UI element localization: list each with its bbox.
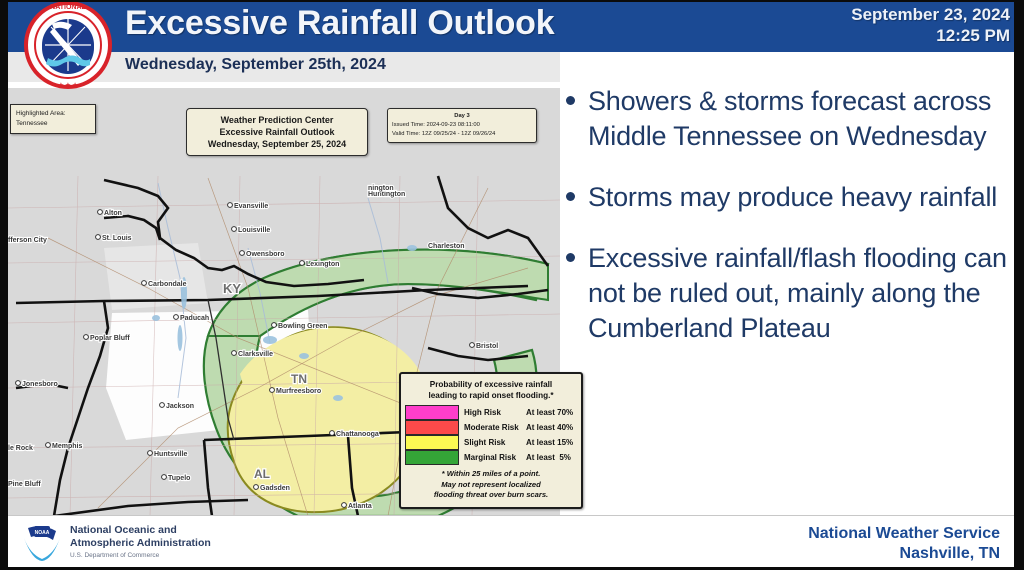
legend-row: Moderate RiskAt least 40%	[405, 420, 577, 435]
header-timestamp: September 23, 2024 12:25 PM	[851, 4, 1010, 46]
legend-row: High RiskAt least 70%	[405, 405, 577, 420]
issuing-office: National Weather Service Nashville, TN	[808, 524, 1000, 564]
legend-title-line-1: Probability of excessive rainfall	[405, 379, 577, 390]
svg-text:TN: TN	[291, 372, 307, 386]
frame-edge-left	[0, 0, 8, 570]
bullet-dot-icon	[566, 241, 588, 346]
legend-risk-name: Marginal Risk	[464, 453, 526, 462]
noaa-agency-text: National Oceanic and Atmospheric Adminis…	[70, 524, 211, 561]
legend-risk-threshold: At least 70%	[526, 408, 573, 417]
legend-title-line-2: leading to rapid onset flooding.*	[405, 390, 577, 401]
wpc-line-2: Excessive Rainfall Outlook	[191, 126, 363, 138]
page-title: Excessive Rainfall Outlook	[125, 4, 554, 43]
noaa-line-1: National Oceanic and	[70, 524, 211, 537]
header-issue-time: 12:25 PM	[851, 25, 1010, 46]
legend-swatch	[405, 405, 459, 420]
issued-time: Issued Time: 2024-09-23 08:11:00	[392, 121, 532, 130]
svg-text:Alton: Alton	[104, 210, 122, 217]
wpc-line-1: Weather Prediction Center	[191, 114, 363, 126]
highlighted-area-value: Tennessee	[16, 119, 90, 129]
svg-text:Louisville: Louisville	[238, 227, 270, 234]
legend-footnote-line-2: May not represent localized	[405, 480, 577, 491]
svg-text:Gadsden: Gadsden	[260, 485, 290, 492]
frame-edge-top	[0, 0, 1024, 2]
svg-text:Jackson: Jackson	[166, 403, 194, 410]
svg-text:Murfreesboro: Murfreesboro	[276, 388, 321, 395]
svg-text:AL: AL	[254, 467, 270, 481]
svg-text:fferson City: fferson City	[8, 237, 47, 244]
noaa-line-3: U.S. Department of Commerce	[70, 550, 211, 561]
legend-risk-threshold: At least 15%	[526, 438, 573, 447]
office-name: National Weather Service	[808, 524, 1000, 544]
legend-swatch	[405, 420, 459, 435]
frame-edge-right	[1014, 0, 1024, 570]
forecast-bullet: Excessive rainfall/flash flooding can no…	[566, 241, 1018, 346]
bullet-dot-icon	[566, 84, 588, 154]
highlighted-area-label: Highlighted Area:	[16, 109, 90, 119]
risk-legend: Probability of excessive rainfall leadin…	[399, 372, 583, 509]
svg-text:St. Louis: St. Louis	[102, 235, 132, 242]
footer-bar: NOAA National Oceanic and Atmospheric Ad…	[8, 515, 1014, 567]
svg-text:Tupelo: Tupelo	[168, 475, 190, 482]
bullet-text: Storms may produce heavy rainfall	[588, 180, 997, 215]
valid-time: Valid Time: 12Z 09/25/24 - 12Z 09/26/24	[392, 130, 532, 139]
svg-text:Huntsville: Huntsville	[154, 451, 188, 458]
bullet-text: Showers & storms forecast across Middle …	[588, 84, 1018, 154]
highlighted-area-callout: Highlighted Area: Tennessee	[10, 104, 96, 134]
bullet-dot-icon	[566, 180, 588, 215]
legend-swatch	[405, 450, 459, 465]
svg-text:Clarksville: Clarksville	[238, 351, 273, 358]
svg-text:NATIONAL: NATIONAL	[50, 4, 86, 11]
noaa-logo-icon: NOAA	[20, 522, 64, 562]
forecast-bullet-list: Showers & storms forecast across Middle …	[566, 84, 1018, 514]
legend-footnote-line-1: * Within 25 miles of a point.	[405, 469, 577, 480]
wpc-line-3: Wednesday, September 25, 2024	[191, 138, 363, 150]
legend-risk-threshold: At least 40%	[526, 423, 573, 432]
svg-text:Charleston: Charleston	[428, 243, 465, 250]
svg-text:nington: nington	[368, 185, 394, 192]
day-validity-callout: Day 3 Issued Time: 2024-09-23 08:11:00 V…	[387, 108, 537, 143]
legend-risk-name: Moderate Risk	[464, 423, 526, 432]
svg-text:Bristol: Bristol	[476, 343, 498, 350]
office-location: Nashville, TN	[808, 544, 1000, 564]
noaa-line-2: Atmospheric Administration	[70, 537, 211, 550]
svg-text:NOAA: NOAA	[35, 530, 50, 536]
svg-text:Poplar Bluff: Poplar Bluff	[90, 335, 130, 342]
svg-text:Huntington: Huntington	[368, 191, 405, 198]
legend-risk-threshold: At least 5%	[526, 453, 571, 462]
legend-rows: High RiskAt least 70%Moderate RiskAt lea…	[405, 405, 577, 465]
svg-text:Evansville: Evansville	[234, 203, 268, 210]
svg-text:Lexington: Lexington	[306, 261, 339, 268]
excessive-rainfall-outlook-slide: Excessive Rainfall Outlook September 23,…	[0, 0, 1024, 570]
svg-text:Carbondale: Carbondale	[148, 281, 187, 288]
subtitle-bar-white-fill	[560, 52, 1014, 82]
legend-title: Probability of excessive rainfall leadin…	[405, 379, 577, 401]
svg-text:Pine Bluff: Pine Bluff	[8, 481, 41, 488]
svg-text:Jonesboro: Jonesboro	[22, 381, 58, 388]
day-label: Day 3	[392, 112, 532, 121]
forecast-bullet: Storms may produce heavy rainfall	[566, 180, 1018, 215]
svg-text:★ ★ ★: ★ ★ ★	[58, 82, 78, 89]
svg-text:Chattanooga: Chattanooga	[336, 431, 379, 438]
legend-row: Marginal RiskAt least 5%	[405, 450, 577, 465]
wpc-title-callout: Weather Prediction Center Excessive Rain…	[186, 108, 368, 156]
svg-text:le Rock: le Rock	[8, 445, 33, 452]
legend-footnote-line-3: flooding threat over burn scars.	[405, 490, 577, 501]
svg-text:KY: KY	[223, 281, 241, 296]
svg-text:Paducah: Paducah	[180, 315, 209, 322]
svg-text:Memphis: Memphis	[52, 443, 82, 450]
legend-footnote: * Within 25 miles of a point. May not re…	[405, 469, 577, 501]
svg-text:Owensboro: Owensboro	[246, 251, 285, 258]
legend-risk-name: Slight Risk	[464, 438, 526, 447]
legend-row: Slight RiskAt least 15%	[405, 435, 577, 450]
svg-text:Atlanta: Atlanta	[348, 503, 372, 510]
legend-swatch	[405, 435, 459, 450]
legend-risk-name: High Risk	[464, 408, 526, 417]
svg-text:Bowling Green: Bowling Green	[278, 323, 327, 330]
bullet-text: Excessive rainfall/flash flooding can no…	[588, 241, 1018, 346]
forecast-bullet: Showers & storms forecast across Middle …	[566, 84, 1018, 154]
nws-logo-icon: NATIONAL ★ ★ ★	[18, 0, 118, 90]
header-issue-date: September 23, 2024	[851, 4, 1010, 25]
valid-day-subtitle: Wednesday, September 25th, 2024	[125, 56, 386, 74]
